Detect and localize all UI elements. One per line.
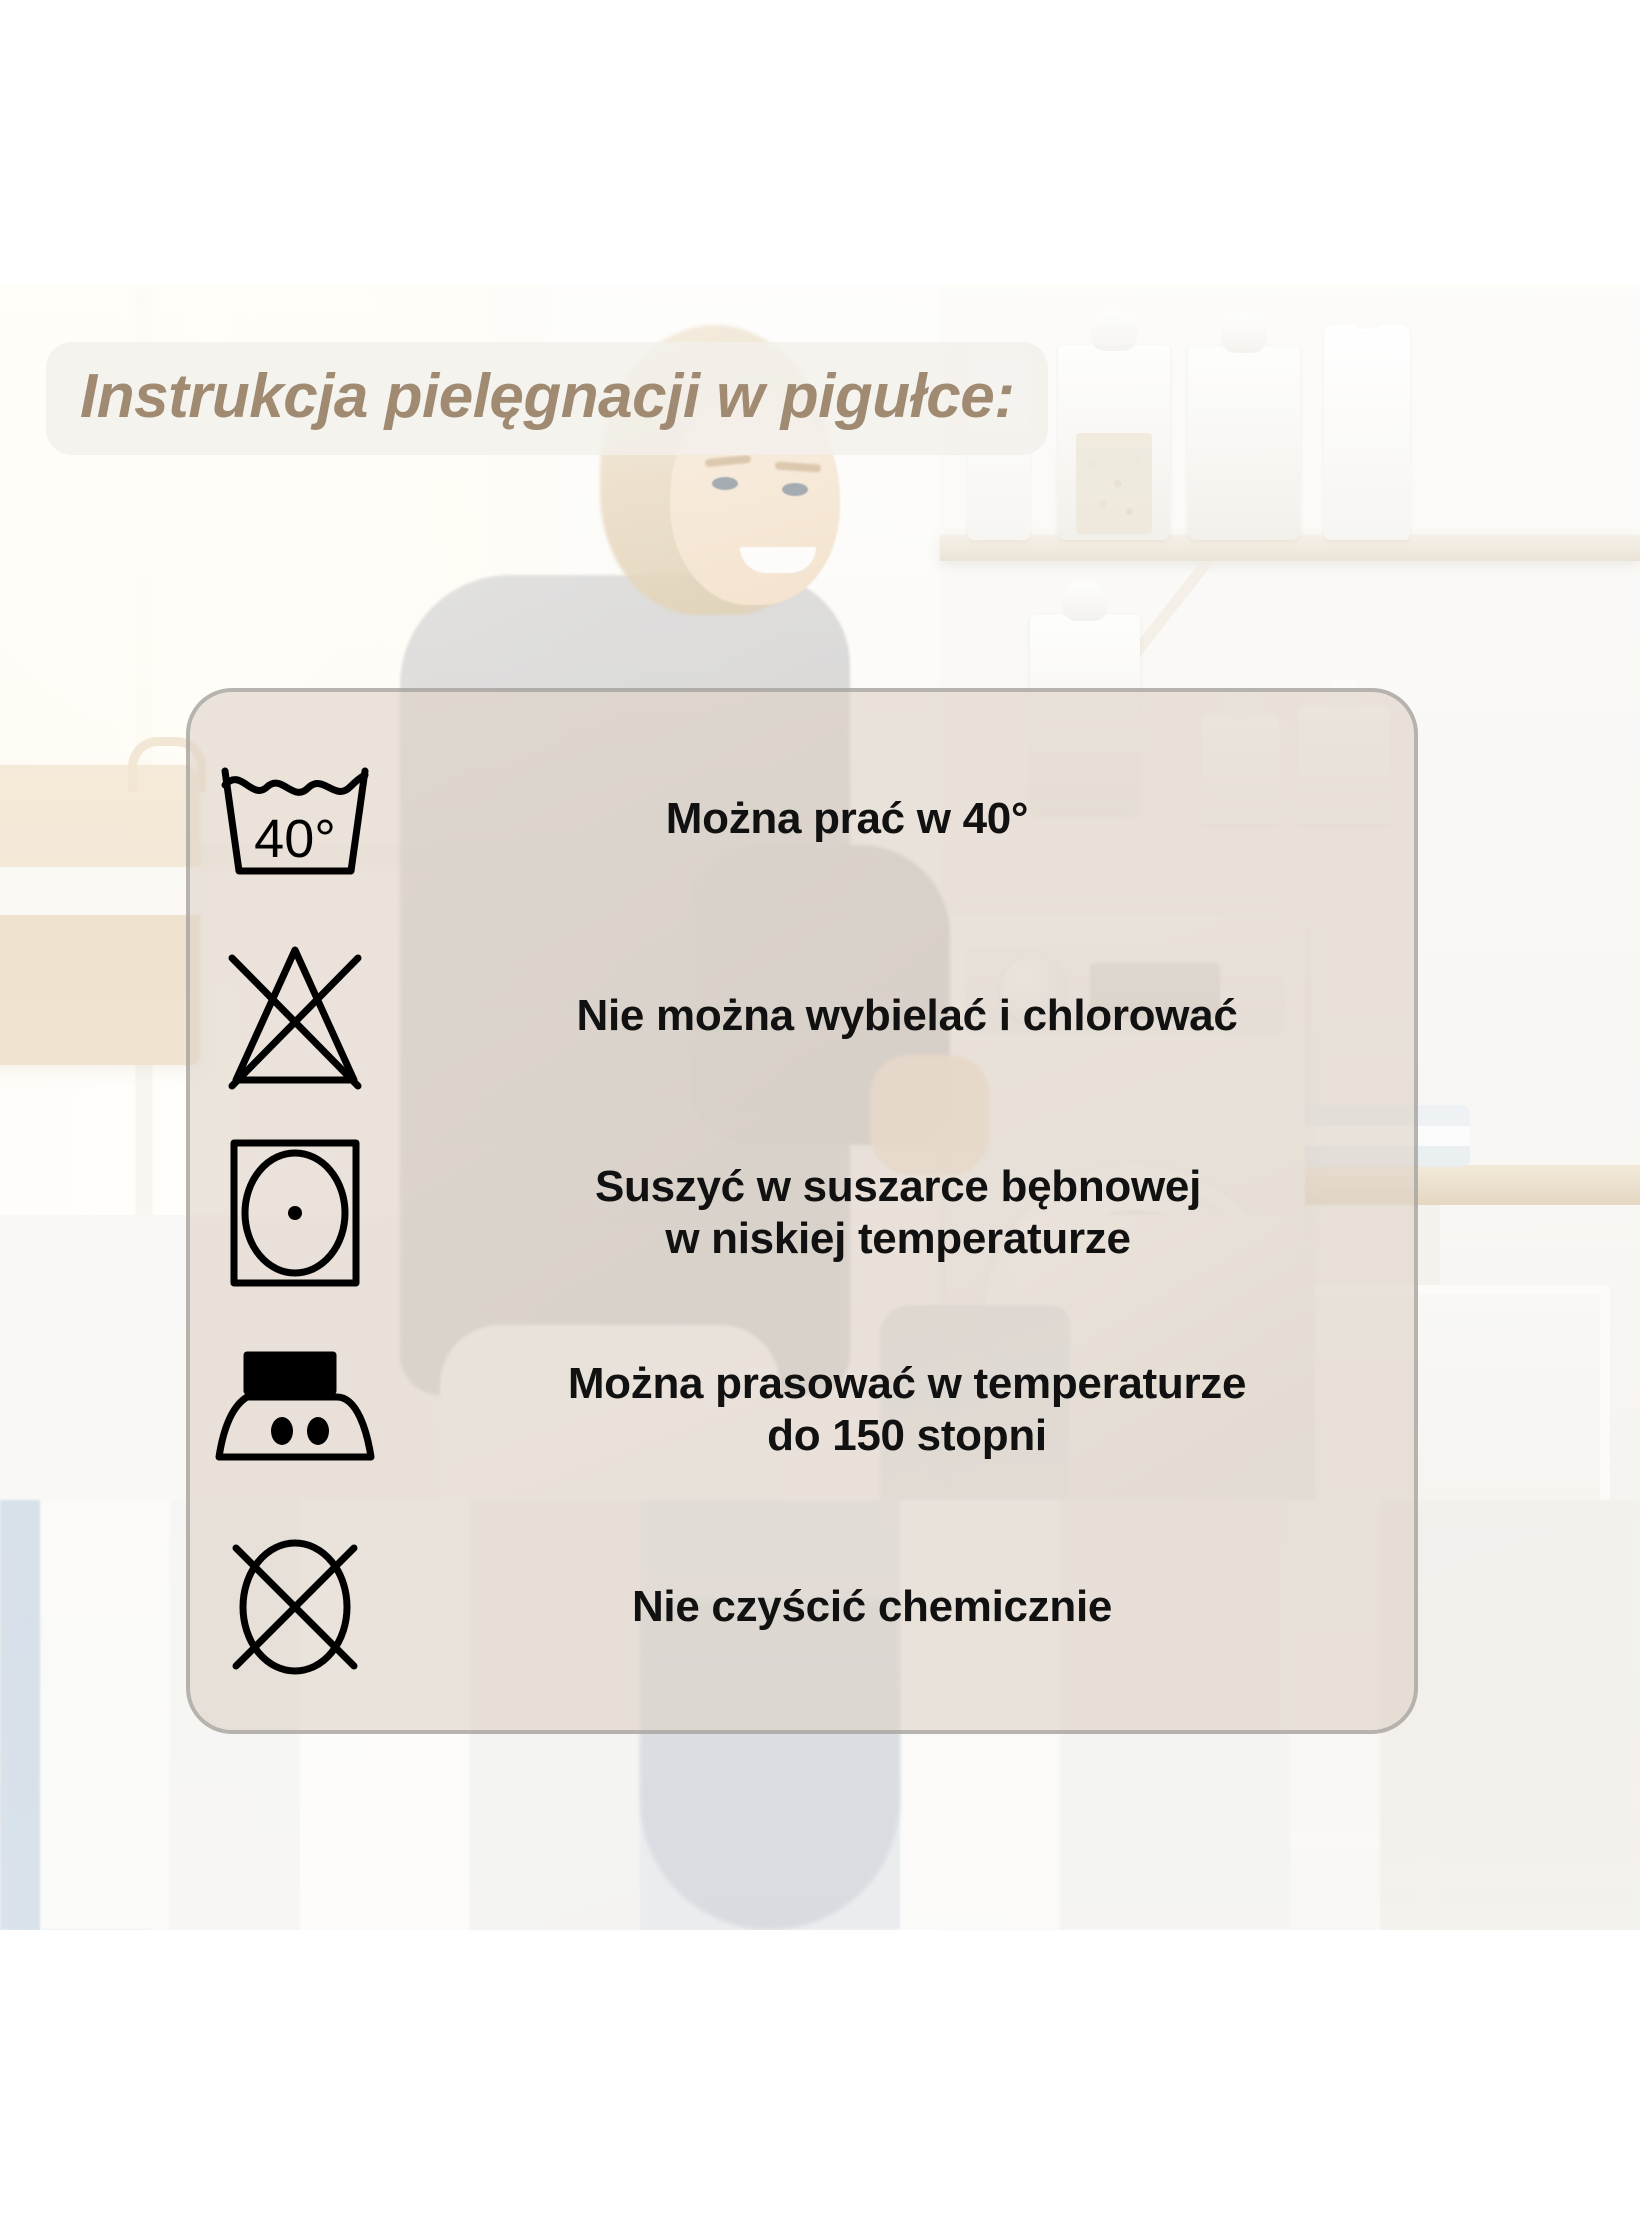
wash-temperature-label: 40° bbox=[254, 809, 336, 869]
jar-icon bbox=[1188, 347, 1300, 540]
care-instruction-label-cell: Suszyć w suszarce bębnowej w niskiej tem… bbox=[400, 1161, 1414, 1265]
care-instruction-label-cell: Nie czyścić chemicznie bbox=[400, 1581, 1414, 1633]
care-instruction-label-cell: Można prasować w temperaturze do 150 sto… bbox=[400, 1358, 1414, 1462]
care-instruction-row: Suszyć w suszarce bębnowej w niskiej tem… bbox=[190, 1114, 1414, 1311]
iron-two-dots-icon bbox=[190, 1345, 400, 1475]
care-instruction-label: Można prasować w temperaturze do 150 sto… bbox=[400, 1358, 1414, 1462]
jar-icon bbox=[1058, 345, 1170, 540]
care-instructions-card: 40° Można prać w 40° Nie można w bbox=[186, 688, 1418, 1734]
care-instruction-label: Nie można wybielać i chlorować bbox=[400, 990, 1414, 1042]
care-instruction-row: Nie można wybielać i chlorować bbox=[190, 917, 1414, 1114]
care-instruction-row: Można prasować w temperaturze do 150 sto… bbox=[190, 1312, 1414, 1509]
care-instruction-label-cell: Nie można wybielać i chlorować bbox=[400, 990, 1414, 1042]
care-instruction-row: 40° Można prać w 40° bbox=[190, 720, 1414, 917]
eye bbox=[712, 477, 738, 490]
do-not-bleach-icon bbox=[190, 940, 400, 1092]
tumble-dry-low-icon bbox=[190, 1133, 400, 1293]
page-title-pill: Instrukcja pielęgnacji w pigułce: bbox=[46, 342, 1048, 455]
care-instruction-label: Suszyć w suszarce bębnowej w niskiej tem… bbox=[400, 1161, 1396, 1265]
care-instruction-list: 40° Można prać w 40° Nie można w bbox=[190, 692, 1414, 1730]
do-not-dry-clean-icon bbox=[190, 1532, 400, 1682]
care-instruction-label: Można prać w 40° bbox=[400, 793, 1294, 845]
bottle-icon bbox=[1324, 325, 1410, 540]
page-title: Instrukcja pielęgnacji w pigułce: bbox=[80, 364, 1014, 429]
basket-icon bbox=[0, 765, 200, 1065]
eye bbox=[782, 483, 808, 496]
care-instruction-label: Nie czyścić chemicznie bbox=[400, 1581, 1344, 1633]
care-instructions-infographic: Instrukcja pielęgnacji w pigułce: 40° Mo… bbox=[0, 0, 1640, 2216]
care-instruction-row: Nie czyścić chemicznie bbox=[190, 1509, 1414, 1706]
care-instruction-label-cell: Można prać w 40° bbox=[400, 793, 1414, 845]
wash-tub-40-icon: 40° bbox=[190, 753, 400, 885]
